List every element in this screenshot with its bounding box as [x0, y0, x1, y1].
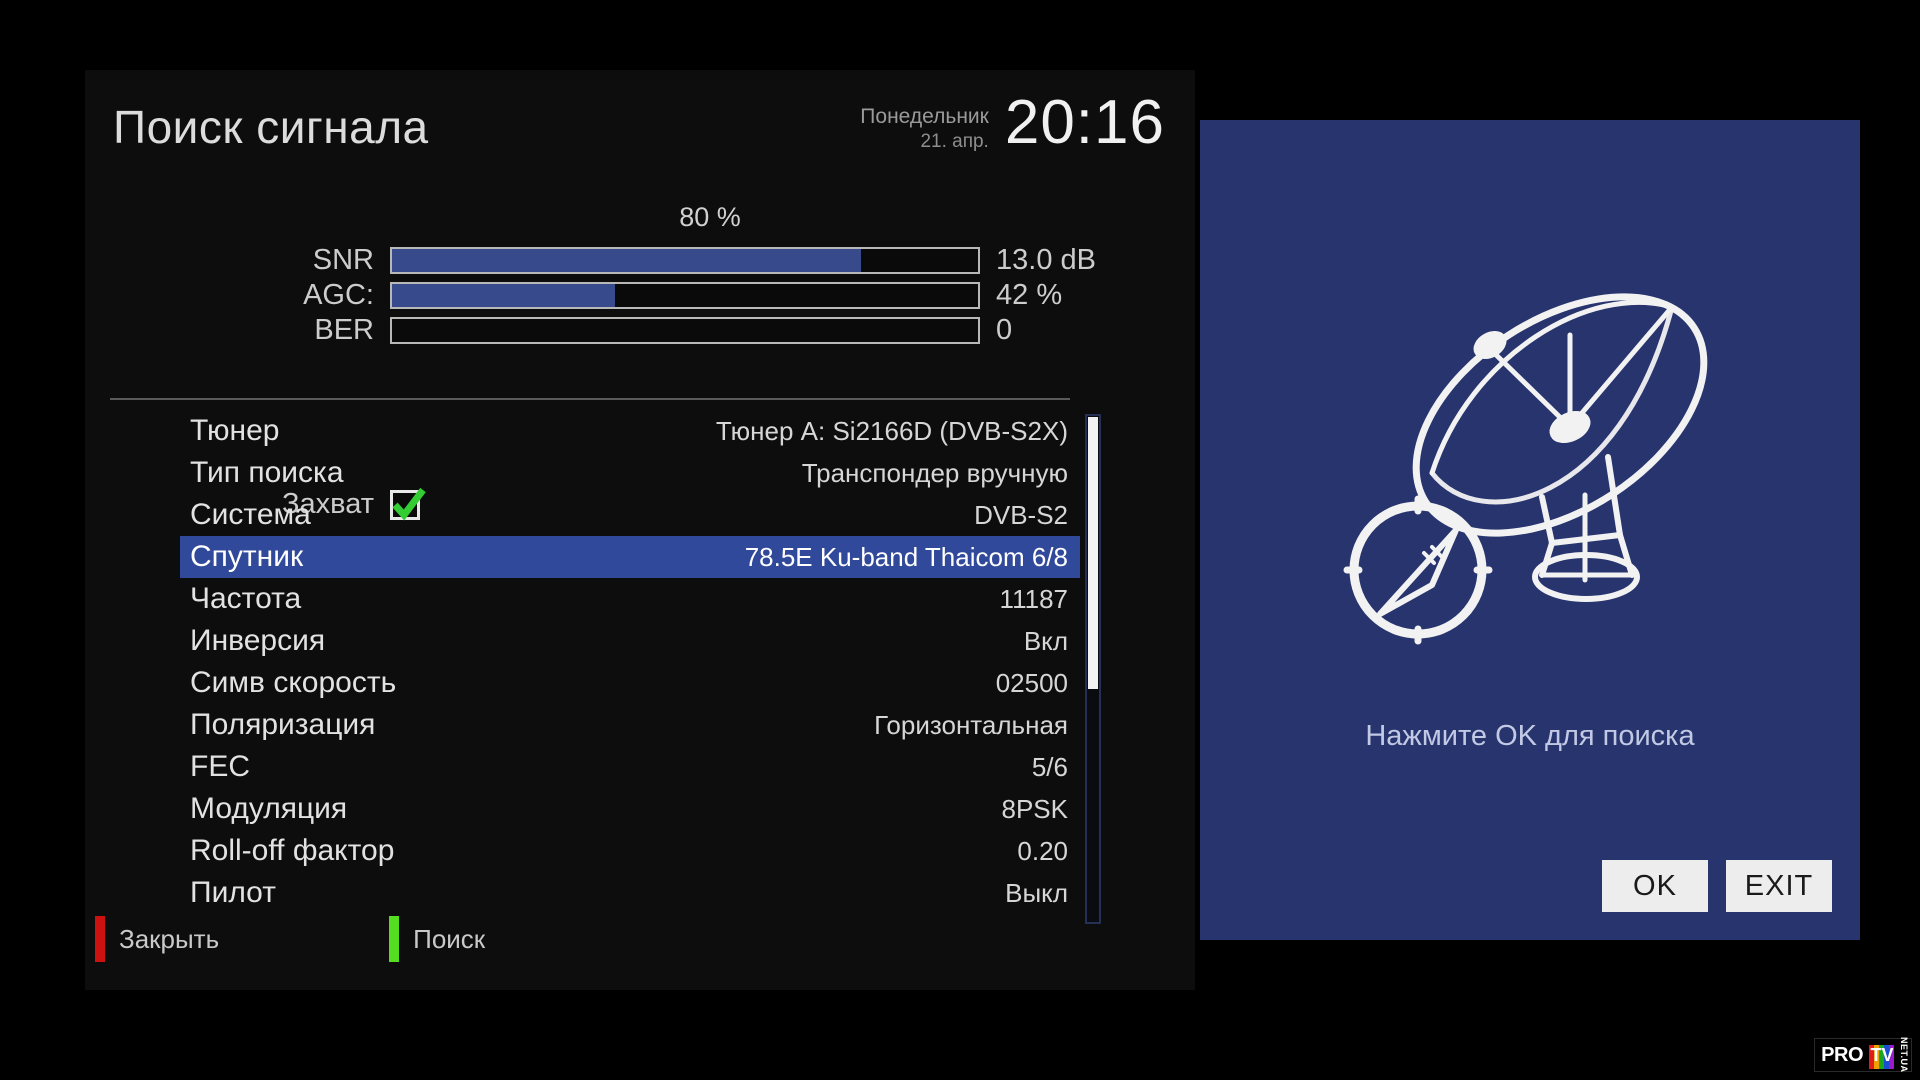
settings-row-label: Симв скорость: [190, 666, 396, 700]
meter-value-agc: 42 %: [980, 279, 1062, 312]
meter-bar-snr: [390, 247, 980, 274]
settings-row-value: 11187: [1000, 584, 1068, 615]
meter-bar-agc: [390, 282, 980, 309]
footer-buttons: Закрыть Поиск: [85, 916, 1195, 962]
settings-row[interactable]: Тип поискаТранспондер вручную: [180, 452, 1080, 494]
settings-row-value: DVB-S2: [974, 500, 1068, 531]
signal-search-panel: Поиск сигнала Понедельник 21. апр. 20:16…: [85, 70, 1195, 990]
watermark-net-text: NET.UA: [1897, 1039, 1911, 1071]
settings-row-label: Спутник: [190, 540, 303, 574]
settings-row[interactable]: ПилотВыкл: [180, 872, 1080, 914]
list-scrollbar[interactable]: [1085, 414, 1101, 924]
settings-row[interactable]: СистемаDVB-S2: [180, 494, 1080, 536]
settings-row-value: Вкл: [1024, 626, 1068, 657]
signal-percent-label: 80 %: [415, 202, 1005, 233]
settings-row-value: Тюнер A: Si2166D (DVB-S2X): [716, 416, 1068, 447]
settings-row[interactable]: Roll-off фактор0.20: [180, 830, 1080, 872]
settings-row-value: 0.20: [1017, 836, 1068, 867]
search-color-bar: [389, 916, 399, 962]
dialog-buttons: OK EXIT: [1602, 860, 1832, 912]
settings-row[interactable]: Симв скорость02500: [180, 662, 1080, 704]
settings-row-label: Система: [190, 498, 311, 532]
settings-row-value: Горизонтальная: [874, 710, 1068, 741]
search-button-label: Поиск: [399, 924, 485, 955]
ok-button[interactable]: OK: [1602, 860, 1708, 912]
satellite-dish-icon: [1320, 235, 1740, 670]
meter-row-ber: BER 0: [85, 312, 1195, 348]
close-button[interactable]: Закрыть: [95, 916, 219, 962]
protv-watermark-logo: PRO TV NET.UA: [1814, 1038, 1912, 1072]
meter-label-ber: BER: [85, 314, 390, 347]
settings-row-value: 02500: [996, 668, 1068, 699]
settings-row-label: Поляризация: [190, 708, 375, 742]
meter-row-snr: SNR 13.0 dB: [85, 242, 1195, 278]
date-stack: Понедельник 21. апр.: [860, 94, 989, 155]
meter-bar-fill-snr: [392, 249, 861, 272]
close-button-label: Закрыть: [105, 924, 219, 955]
meter-bar-fill-agc: [392, 284, 615, 307]
settings-row[interactable]: Частота11187: [180, 578, 1080, 620]
tv-receiver-screen: Поиск сигнала Понедельник 21. апр. 20:16…: [0, 0, 1920, 1080]
settings-row[interactable]: ИнверсияВкл: [180, 620, 1080, 662]
settings-row[interactable]: ПоляризацияГоризонтальная: [180, 704, 1080, 746]
page-title: Поиск сигнала: [113, 100, 429, 154]
search-dialog-panel: Нажмите OK для поиска OK EXIT: [1200, 120, 1860, 940]
settings-list: ТюнерТюнер A: Si2166D (DVB-S2X)Тип поиск…: [180, 410, 1080, 914]
exit-button[interactable]: EXIT: [1726, 860, 1832, 912]
scrollbar-thumb[interactable]: [1088, 417, 1098, 689]
settings-row-value: 78.5E Ku-band Thaicom 6/8: [745, 542, 1068, 573]
meter-label-snr: SNR: [85, 244, 390, 277]
meter-label-agc: AGC:: [85, 279, 390, 312]
settings-row-selected[interactable]: Спутник78.5E Ku-band Thaicom 6/8: [180, 536, 1080, 578]
close-color-bar: [95, 916, 105, 962]
search-hint-text: Нажмите OK для поиска: [1200, 720, 1860, 753]
meter-bar-ber: [390, 317, 980, 344]
settings-row-value: 8PSK: [1002, 794, 1069, 825]
settings-row-label: Тип поиска: [190, 456, 344, 490]
clock-block: Понедельник 21. апр. 20:16: [860, 94, 1165, 155]
clock-date: 21. апр.: [920, 130, 988, 155]
meter-value-snr: 13.0 dB: [980, 244, 1096, 277]
watermark-tv-text: TV: [1870, 1045, 1893, 1066]
settings-row-label: Инверсия: [190, 624, 325, 658]
clock-weekday: Понедельник: [860, 104, 989, 130]
meter-value-ber: 0: [980, 314, 1012, 347]
settings-row-label: Модуляция: [190, 792, 347, 826]
settings-row[interactable]: ТюнерТюнер A: Si2166D (DVB-S2X): [180, 410, 1080, 452]
settings-row-value: Транспондер вручную: [802, 458, 1068, 489]
watermark-tv-icon: TV: [1867, 1039, 1897, 1071]
settings-row-label: Частота: [190, 582, 301, 616]
settings-row[interactable]: Модуляция8PSK: [180, 788, 1080, 830]
search-button[interactable]: Поиск: [389, 916, 485, 962]
settings-row-value: Выкл: [1005, 878, 1068, 909]
settings-row[interactable]: FEC5/6: [180, 746, 1080, 788]
meter-row-agc: AGC: 42 %: [85, 277, 1195, 313]
clock-time: 20:16: [1005, 94, 1165, 153]
settings-row-label: Тюнер: [190, 414, 279, 448]
settings-row-label: Пилот: [190, 876, 276, 910]
section-divider: [110, 398, 1070, 400]
settings-row-label: Roll-off фактор: [190, 834, 394, 868]
settings-row-label: FEC: [190, 750, 250, 784]
settings-row-value: 5/6: [1032, 752, 1068, 783]
watermark-pro-text: PRO: [1815, 1039, 1867, 1071]
